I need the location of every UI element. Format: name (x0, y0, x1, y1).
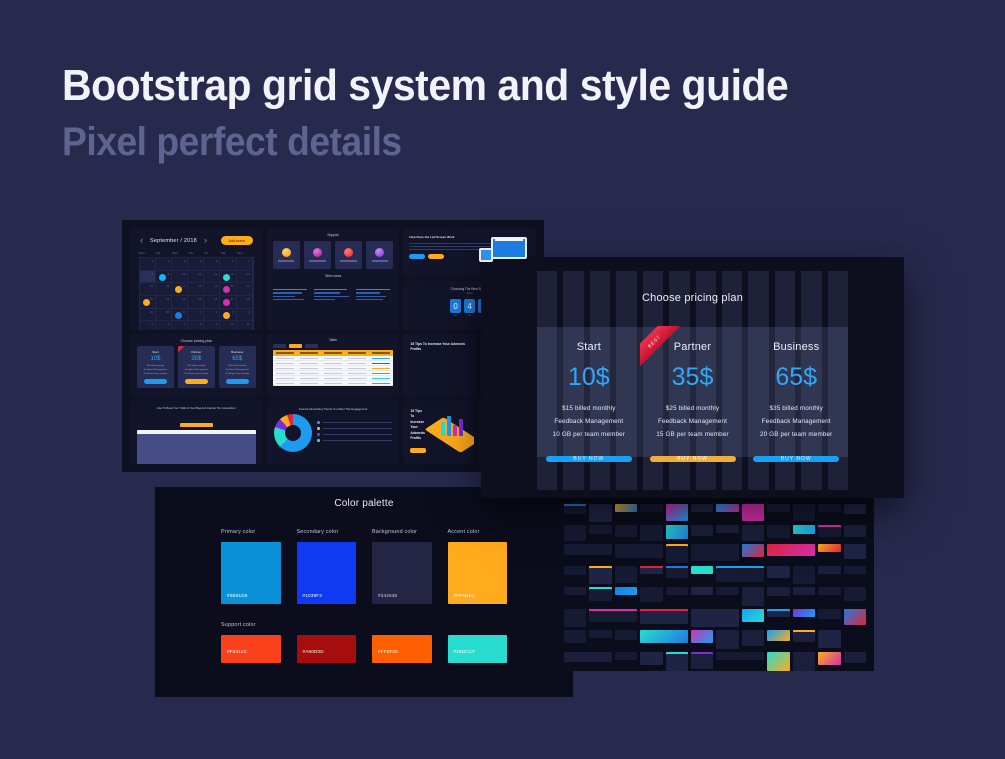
screen-thumbnail[interactable] (666, 587, 688, 595)
best-ribbon-label: BEST (640, 326, 682, 369)
palette-swatch-item: #FF5F00 (372, 635, 432, 663)
chevron-left-icon[interactable]: ‹ (140, 236, 143, 245)
palette-swatch[interactable]: #FFAB1C (448, 542, 508, 604)
mini-plan-feature: 20 GB per team member (221, 373, 254, 377)
calendar-weekday: Fri (205, 251, 221, 255)
calendar-day-cell[interactable]: 4 (237, 309, 253, 322)
screen-thumbnail[interactable] (589, 587, 611, 601)
calendar-day-cell[interactable]: 3 (172, 258, 188, 271)
buy-now-button[interactable]: BUY NOW (753, 456, 839, 462)
palette-main-row: Primary color#0B91D8Secondary color#1039… (221, 529, 507, 604)
mini-plan-price: 35$ (180, 356, 213, 362)
support-tile[interactable] (304, 241, 331, 269)
calendar-weekday: Sun (237, 251, 253, 255)
screen-thumbnail[interactable] (589, 566, 611, 584)
donut-card: Internet Advertising Trends You Want Thi… (267, 401, 400, 464)
calendar-event-dot[interactable] (223, 286, 230, 293)
calendar-day-cell[interactable]: 7 (172, 321, 188, 330)
countdown-digit-box: 4 (464, 299, 475, 313)
calendar-event-dot[interactable] (223, 312, 230, 319)
calendar-day-cell[interactable]: 11 (237, 321, 253, 330)
calendar-day-cell[interactable]: 24 (172, 296, 188, 309)
palette-swatch[interactable]: #28DCCF (448, 635, 508, 663)
screen-thumbnail[interactable] (615, 525, 637, 537)
calendar-day-cell[interactable]: 9 (156, 271, 172, 284)
mini-buy-now-button[interactable] (226, 379, 249, 384)
screen-thumbnail[interactable] (716, 652, 764, 660)
plan-price: 10$ (568, 363, 610, 392)
pricing-card: Business65$$35 billed monthlyFeedback Ma… (744, 327, 848, 457)
calendar-weekday: Sat (221, 251, 237, 255)
screen-thumbnail[interactable] (640, 525, 662, 541)
screen-thumbnail[interactable] (716, 630, 738, 649)
calendar-day-cell[interactable]: 25 (188, 296, 204, 309)
calendar-day-cell[interactable]: 1 (140, 258, 156, 271)
table-tab[interactable] (273, 344, 286, 348)
plan-feature: Feedback Management (553, 415, 625, 428)
support-title: Support (267, 228, 400, 241)
screen-thumbnail[interactable] (818, 587, 840, 595)
screen-thumbnail[interactable] (564, 544, 612, 555)
calendar-weekday: Mon (139, 251, 155, 255)
palette-support-block: Support color #F9411C#A60D0D#FF5F00#28DC… (221, 622, 507, 663)
mini-plan-name: Business (221, 350, 254, 354)
screen-thumbnail[interactable] (589, 630, 611, 638)
screen-thumbnail[interactable] (742, 630, 764, 646)
palette-hex-value: #F9411C (227, 649, 247, 654)
calendar-day-cell[interactable]: 10 (220, 321, 236, 330)
palette-swatch-label: Primary color (221, 529, 281, 535)
tips-iso-card: 15 Tips To Increase Your Adwords Profits (403, 401, 473, 464)
countdown-unit-label: DD (450, 315, 461, 317)
screen-thumbnail[interactable] (640, 566, 662, 574)
screen-thumbnail[interactable] (793, 504, 815, 521)
screen-thumbnail[interactable] (844, 544, 866, 559)
calendar-event-dot[interactable] (159, 274, 166, 281)
data-table (273, 350, 394, 386)
tips-iso-title: 15 Tips To Increase Your Adwords Profits (410, 409, 426, 442)
calendar-day-cell[interactable]: 2 (156, 258, 172, 271)
other-news-title: Other news (267, 269, 400, 282)
plan-features: $35 billed monthlyFeedback Management20 … (760, 402, 832, 442)
screen-thumbnail[interactable] (818, 630, 840, 648)
browser-viewport (137, 434, 256, 464)
calendar-day-cell[interactable]: 6 (220, 258, 236, 271)
screen-thumbnail[interactable] (666, 504, 688, 521)
mini-plan-name: Start (139, 350, 172, 354)
screen-thumbnail[interactable] (640, 609, 688, 624)
screens-mosaic-grid (564, 504, 866, 665)
calendar-day-cell[interactable]: 26 (204, 296, 220, 309)
countdown-digit-box: 0 (450, 299, 461, 313)
screen-thumbnail[interactable] (666, 652, 688, 671)
calendar-weekday: Thu (188, 251, 204, 255)
calendar-day-cell[interactable]: 31 (172, 309, 188, 322)
support-tile[interactable] (273, 241, 300, 269)
calendar-card: ‹ September / 2018 › Add event MonTueWed… (130, 228, 263, 330)
palette-swatch[interactable]: #FF5F00 (372, 635, 432, 663)
tips-cta-button[interactable] (410, 448, 426, 453)
page-subtitle: Pixel perfect details (62, 120, 788, 164)
screen-thumbnail[interactable] (691, 609, 739, 627)
calendar-day-cell[interactable]: 12 (204, 271, 220, 284)
screen-thumbnail[interactable] (640, 630, 688, 643)
calendar-day-cell[interactable]: 5 (140, 321, 156, 330)
calendar-grid[interactable]: 1234567891011121314151617181920212223242… (139, 257, 254, 330)
pricing-card: BESTPartner35$$25 billed monthlyFeedback… (641, 327, 745, 457)
pricing-heading: Choose pricing plan (481, 292, 904, 304)
support-tile[interactable] (366, 241, 393, 269)
screen-thumbnail[interactable] (615, 587, 637, 595)
screen-thumbnail[interactable] (691, 544, 739, 561)
browser-mock-card: How To Boost Your Traffic & Your Blog An… (130, 401, 263, 464)
palette-swatch-item: Accent color#FFAB1C (448, 529, 508, 604)
palette-hex-value: #242545 (378, 593, 397, 598)
plan-feature: 10 GB per team member (553, 428, 625, 441)
tips-title: 15 Tips To Increase Your Adwords Profits (410, 342, 469, 353)
plan-feature: $35 billed monthly (760, 402, 832, 415)
screen-thumbnail[interactable] (564, 609, 586, 627)
pricing-card: Start10$$15 billed monthlyFeedback Manag… (537, 327, 641, 457)
screen-thumbnail[interactable] (767, 652, 789, 671)
news-column[interactable] (356, 289, 394, 303)
screen-thumbnail[interactable] (691, 525, 713, 536)
calendar-day-cell[interactable]: 17 (172, 283, 188, 296)
screen-thumbnail[interactable] (793, 630, 815, 642)
screen-thumbnail[interactable] (691, 566, 713, 574)
screen-thumbnail[interactable] (742, 609, 764, 622)
support-tile[interactable] (335, 241, 362, 269)
donut-body (267, 414, 400, 452)
add-event-button[interactable]: Add event (221, 236, 253, 245)
screen-thumbnail[interactable] (844, 652, 866, 663)
screen-thumbnail[interactable] (564, 525, 586, 541)
chevron-right-icon[interactable]: › (204, 236, 207, 245)
screen-thumbnail[interactable] (844, 609, 866, 625)
calendar-day-cell[interactable]: 4 (188, 258, 204, 271)
screen-thumbnail[interactable] (767, 544, 815, 556)
palette-hex-value: #FFAB1C (454, 593, 475, 598)
tips-body: 15 Tips To Increase Your Adwords Profits (403, 334, 476, 361)
screen-thumbnail[interactable] (666, 525, 688, 539)
screen-thumbnail[interactable] (818, 566, 840, 574)
screen-thumbnail[interactable] (716, 566, 764, 582)
best-ribbon: BEST (640, 326, 684, 370)
screen-thumbnail[interactable] (615, 566, 637, 583)
screen-thumbnail[interactable] (767, 609, 789, 617)
screen-thumbnail[interactable] (615, 652, 637, 660)
screen-thumbnail[interactable] (818, 609, 840, 619)
screen-thumbnail[interactable] (844, 504, 866, 514)
screen-thumbnail[interactable] (564, 652, 612, 662)
mini-plan-name: Partner (180, 350, 213, 354)
palette-swatch-item: Background color#242545 (372, 529, 432, 604)
table-card: Table (267, 334, 400, 397)
screen-thumbnail[interactable] (564, 504, 586, 514)
screen-thumbnail[interactable] (793, 652, 815, 671)
legend-item (317, 421, 393, 424)
calendar-day-cell[interactable]: 2 (204, 309, 220, 322)
mini-pricing-card[interactable]: Business65$$35 billed monthlyFeedback Ma… (219, 346, 256, 388)
mini-plan-feature: 10 GB per team member (139, 373, 172, 377)
browser-mock (137, 423, 256, 464)
device-mockup-icon (479, 237, 527, 267)
screen-thumbnail[interactable] (767, 566, 789, 578)
calendar-event-dot[interactable] (223, 274, 230, 281)
calendar-day-cell[interactable]: 1 (188, 309, 204, 322)
screen-thumbnail[interactable] (691, 504, 713, 512)
device-monitor-icon (491, 237, 527, 259)
palette-hex-value: #A60D0D (303, 649, 324, 654)
table-title: Table (267, 334, 400, 344)
article-primary-button[interactable] (409, 254, 425, 259)
screen-thumbnail[interactable] (844, 587, 866, 601)
screen-thumbnail[interactable] (767, 504, 789, 512)
calendar-event-dot[interactable] (175, 286, 182, 293)
page-title: Bootstrap grid system and style guide (62, 62, 788, 110)
calendar-event-dot[interactable] (175, 312, 182, 319)
screen-thumbnail[interactable] (640, 652, 662, 665)
screen-thumbnail[interactable] (666, 566, 688, 578)
article-secondary-button[interactable] (428, 254, 444, 259)
plan-features: $15 billed monthlyFeedback Management10 … (553, 402, 625, 442)
calendar-weekday: Tue (155, 251, 171, 255)
mini-pricing-card[interactable]: Start10$$15 billed monthlyFeedback Manag… (137, 346, 174, 388)
calendar-day-cell[interactable]: 28 (237, 296, 253, 309)
calendar-day-cell[interactable]: 14 (237, 271, 253, 284)
screen-thumbnail[interactable] (742, 525, 764, 541)
screen-thumbnail[interactable] (615, 544, 663, 558)
calendar-day-cell[interactable]: 27 (220, 296, 236, 309)
calendar-weekday-row: MonTueWedThuFriSatSun (130, 249, 263, 257)
screen-thumbnail[interactable] (742, 504, 764, 521)
screen-thumbnail[interactable] (793, 525, 815, 534)
screen-thumbnail[interactable] (691, 630, 713, 643)
pricing-cards: Start10$$15 billed monthlyFeedback Manag… (537, 327, 848, 457)
plan-name: Start (577, 341, 601, 353)
plan-features: $25 billed monthlyFeedback Management15 … (656, 402, 728, 442)
screen-thumbnail[interactable] (716, 587, 738, 595)
palette-swatch[interactable]: #242545 (372, 542, 432, 604)
screen-thumbnail[interactable] (793, 609, 815, 617)
color-palette-panel: Color palette Primary color#0B91D8Second… (155, 487, 573, 697)
calendar-day-cell[interactable]: 16 (156, 283, 172, 296)
calendar-header: ‹ September / 2018 › Add event (130, 228, 263, 249)
table-row[interactable] (273, 381, 394, 386)
legend-item (317, 439, 393, 442)
mini-plan-price: 10$ (139, 356, 172, 362)
donut-chart (274, 414, 312, 452)
palette-swatch[interactable]: #1039F3 (297, 542, 357, 604)
palette-support-label: Support color (221, 622, 507, 628)
screen-thumbnail[interactable] (564, 587, 586, 595)
palette-swatch-item: #28DCCF (448, 635, 508, 663)
mini-pricing-title: Choose pricing plan (130, 334, 263, 346)
plan-feature: 20 GB per team member (760, 428, 832, 441)
table-tab-active[interactable] (289, 344, 302, 348)
calendar-weekday: Wed (172, 251, 188, 255)
mini-pricing-card: Choose pricing plan Start10$$15 billed m… (130, 334, 263, 397)
palette-swatch-item: Secondary color#1039F3 (297, 529, 357, 604)
plan-feature: 15 GB per team member (656, 428, 728, 441)
screen-thumbnail[interactable] (844, 525, 866, 537)
page-title-block: Bootstrap grid system and style guide Pi… (62, 62, 843, 164)
isometric-chart-icon (431, 412, 466, 450)
calendar-day-cell[interactable]: 5 (204, 258, 220, 271)
mini-pricing-card[interactable]: Partner35$$25 billed monthlyFeedback Man… (178, 346, 215, 388)
calendar-day-cell[interactable]: 19 (204, 283, 220, 296)
legend-item (317, 427, 393, 430)
palette-hex-value: #28DCCF (454, 649, 476, 654)
palette-hex-value: #FF5F00 (378, 649, 398, 654)
calendar-day-cell[interactable]: 7 (237, 258, 253, 271)
news-column[interactable] (273, 289, 311, 303)
calendar-day-cell[interactable]: 8 (140, 271, 156, 284)
calendar-day-cell[interactable]: 3 (220, 309, 236, 322)
palette-swatch[interactable]: #A60D0D (297, 635, 357, 663)
countdown-unit-label: HH (464, 315, 475, 317)
calendar-day-cell[interactable]: 15 (140, 283, 156, 296)
calendar-day-cell[interactable]: 29 (140, 309, 156, 322)
plan-name: Business (773, 341, 819, 353)
mini-pricing-cards: Start10$$15 billed monthlyFeedback Manag… (130, 346, 263, 388)
calendar-day-cell[interactable]: 21 (237, 283, 253, 296)
palette-swatch-label: Accent color (448, 529, 508, 535)
palette-swatch-label: Secondary color (297, 529, 357, 535)
screen-thumbnail[interactable] (818, 525, 840, 537)
plan-feature: $15 billed monthly (553, 402, 625, 415)
screen-thumbnail[interactable] (716, 504, 738, 512)
screen-thumbnail[interactable] (666, 544, 688, 563)
pricing-panel: Choose pricing plan Start10$$15 billed m… (481, 257, 904, 498)
screen-thumbnail[interactable] (691, 587, 713, 595)
screens-mosaic-panel (556, 498, 874, 671)
screen-thumbnail[interactable] (691, 652, 713, 669)
palette-hex-value: #0B91D8 (227, 593, 248, 598)
tips-iso-body: 15 Tips To Increase Your Adwords Profits (403, 401, 473, 461)
news-column[interactable] (314, 289, 352, 303)
calendar-day-cell[interactable]: 8 (188, 321, 204, 330)
screen-thumbnail[interactable] (767, 587, 789, 596)
screen-thumbnail[interactable] (793, 566, 815, 584)
page-root: Bootstrap grid system and style guide Pi… (0, 0, 1005, 759)
screen-thumbnail[interactable] (767, 630, 789, 641)
donut-title: Internet Advertising Trends You Want Thi… (267, 401, 400, 414)
screen-thumbnail[interactable] (844, 566, 866, 574)
screen-thumbnail[interactable] (564, 630, 586, 643)
palette-swatch-item: #A60D0D (297, 635, 357, 663)
screen-thumbnail[interactable] (767, 525, 789, 538)
browser-mock-title: How To Boost Your Traffic & Your Blog An… (130, 401, 263, 415)
screen-thumbnail[interactable] (589, 609, 637, 622)
tips-text-card: 15 Tips To Increase Your Adwords Profits (403, 334, 476, 397)
calendar-day-cell[interactable]: 10 (172, 271, 188, 284)
calendar-day-cell[interactable]: 23 (156, 296, 172, 309)
browser-cta-bar[interactable] (180, 423, 213, 427)
screen-thumbnail[interactable] (793, 587, 815, 595)
palette-swatch[interactable]: #0B91D8 (221, 542, 281, 604)
mini-plan-feature: 15 GB per team member (180, 373, 213, 377)
calendar-day-cell[interactable]: 30 (156, 309, 172, 322)
calendar-day-cell[interactable]: 11 (188, 271, 204, 284)
palette-swatch-item: Primary color#0B91D8 (221, 529, 281, 604)
screen-thumbnail[interactable] (564, 566, 586, 575)
screen-thumbnail[interactable] (615, 504, 637, 512)
palette-support-row: #F9411C#A60D0D#FF5F00#28DCCF (221, 635, 507, 663)
screen-thumbnail[interactable] (716, 525, 738, 533)
calendar-event-dot[interactable] (223, 299, 230, 306)
calendar-day-cell[interactable]: 20 (220, 283, 236, 296)
buy-now-button[interactable]: BUY NOW (650, 456, 736, 462)
donut-legend (317, 421, 393, 445)
screen-thumbnail[interactable] (742, 587, 764, 606)
screen-thumbnail[interactable] (640, 587, 662, 602)
palette-swatch-label: Background color (372, 529, 432, 535)
mini-buy-now-button[interactable] (144, 379, 167, 384)
mini-plan-price: 65$ (221, 356, 254, 362)
screen-thumbnail[interactable] (589, 504, 611, 522)
calendar-day-cell[interactable]: 9 (204, 321, 220, 330)
palette-swatch[interactable]: #F9411C (221, 635, 281, 663)
screen-thumbnail[interactable] (615, 630, 637, 640)
table-tab[interactable] (305, 344, 318, 348)
calendar-event-dot[interactable] (143, 299, 150, 306)
plan-price: 65$ (775, 363, 817, 392)
buy-now-button[interactable]: BUY NOW (546, 456, 632, 462)
calendar-day-cell[interactable]: 22 (140, 296, 156, 309)
screen-thumbnail[interactable] (818, 504, 840, 512)
screen-thumbnail[interactable] (818, 652, 840, 665)
plan-feature: $25 billed monthly (656, 402, 728, 415)
calendar-day-cell[interactable]: 18 (188, 283, 204, 296)
screen-thumbnail[interactable] (818, 544, 840, 552)
calendar-day-cell[interactable]: 6 (156, 321, 172, 330)
legend-item (317, 433, 393, 436)
screen-thumbnail[interactable] (640, 504, 662, 512)
support-tiles (267, 241, 400, 269)
calendar-nav[interactable]: ‹ September / 2018 › (140, 236, 207, 245)
news-columns (267, 282, 400, 303)
screen-thumbnail[interactable] (742, 544, 764, 557)
mini-buy-now-button[interactable] (185, 379, 208, 384)
palette-swatch-item: #F9411C (221, 635, 281, 663)
calendar-month-label: September / 2018 (150, 238, 197, 244)
palette-hex-value: #1039F3 (303, 593, 323, 598)
screen-thumbnail[interactable] (589, 525, 611, 534)
plan-feature: Feedback Management (760, 415, 832, 428)
plan-feature: Feedback Management (656, 415, 728, 428)
support-card: Support Other news (267, 228, 400, 330)
calendar-day-cell[interactable]: 13 (220, 271, 236, 284)
